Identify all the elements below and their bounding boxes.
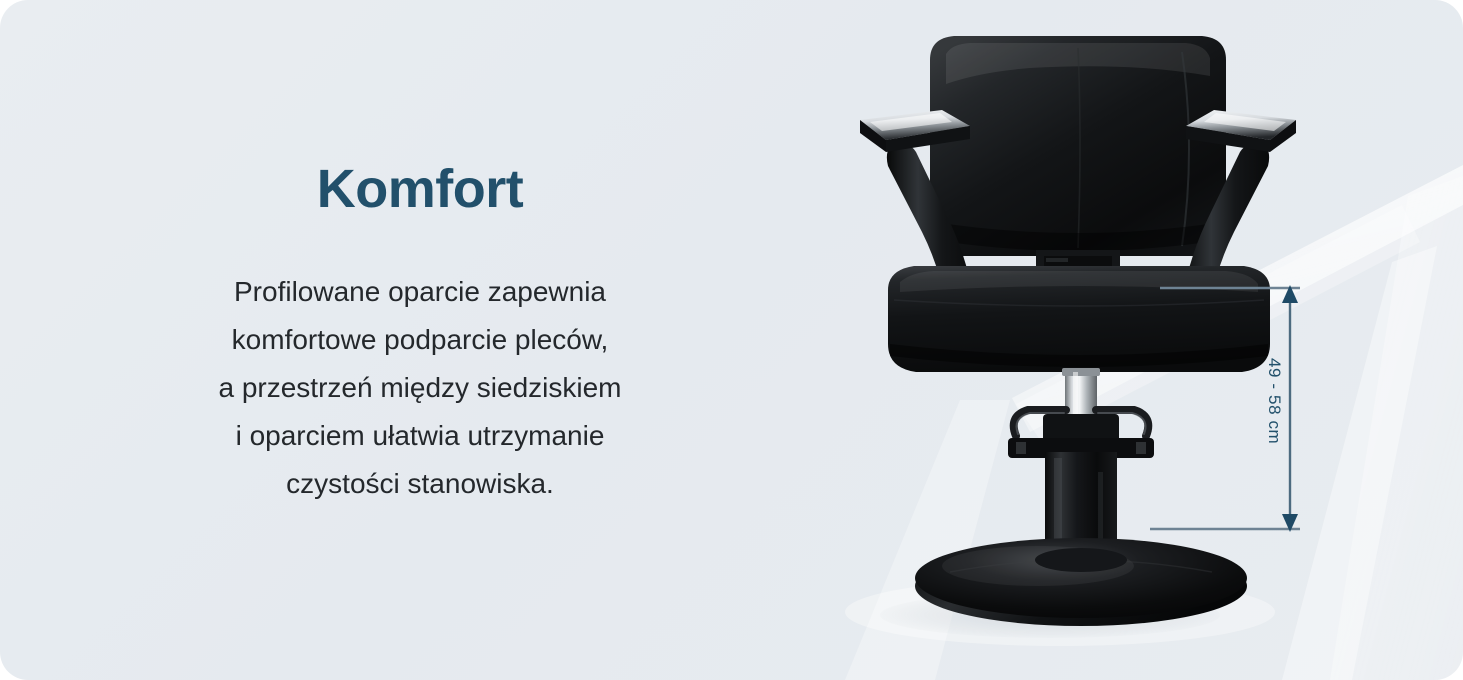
description-line: i oparciem ułatwia utrzymanie	[218, 412, 621, 460]
comfort-feature-card: Komfort Profilowane oparcie zapewnia kom…	[0, 0, 1463, 680]
round-base-disc	[915, 538, 1247, 626]
feature-description: Profilowane oparcie zapewnia komfortowe …	[218, 268, 621, 509]
seat-cushion	[888, 266, 1270, 372]
page-title: Komfort	[317, 162, 523, 216]
description-line: Profilowane oparcie zapewnia	[218, 268, 621, 316]
description-line: komfortowe podparcie pleców,	[218, 316, 621, 364]
feature-text-column: Komfort Profilowane oparcie zapewnia kom…	[60, 0, 780, 680]
dimension-label: 49 - 58 cm	[1264, 358, 1284, 444]
description-line: a przestrzeń między siedziskiem	[218, 364, 621, 412]
product-image-styling-chair	[830, 0, 1350, 680]
backrest-cushion	[930, 36, 1226, 256]
description-line: czystości stanowiska.	[218, 460, 621, 508]
